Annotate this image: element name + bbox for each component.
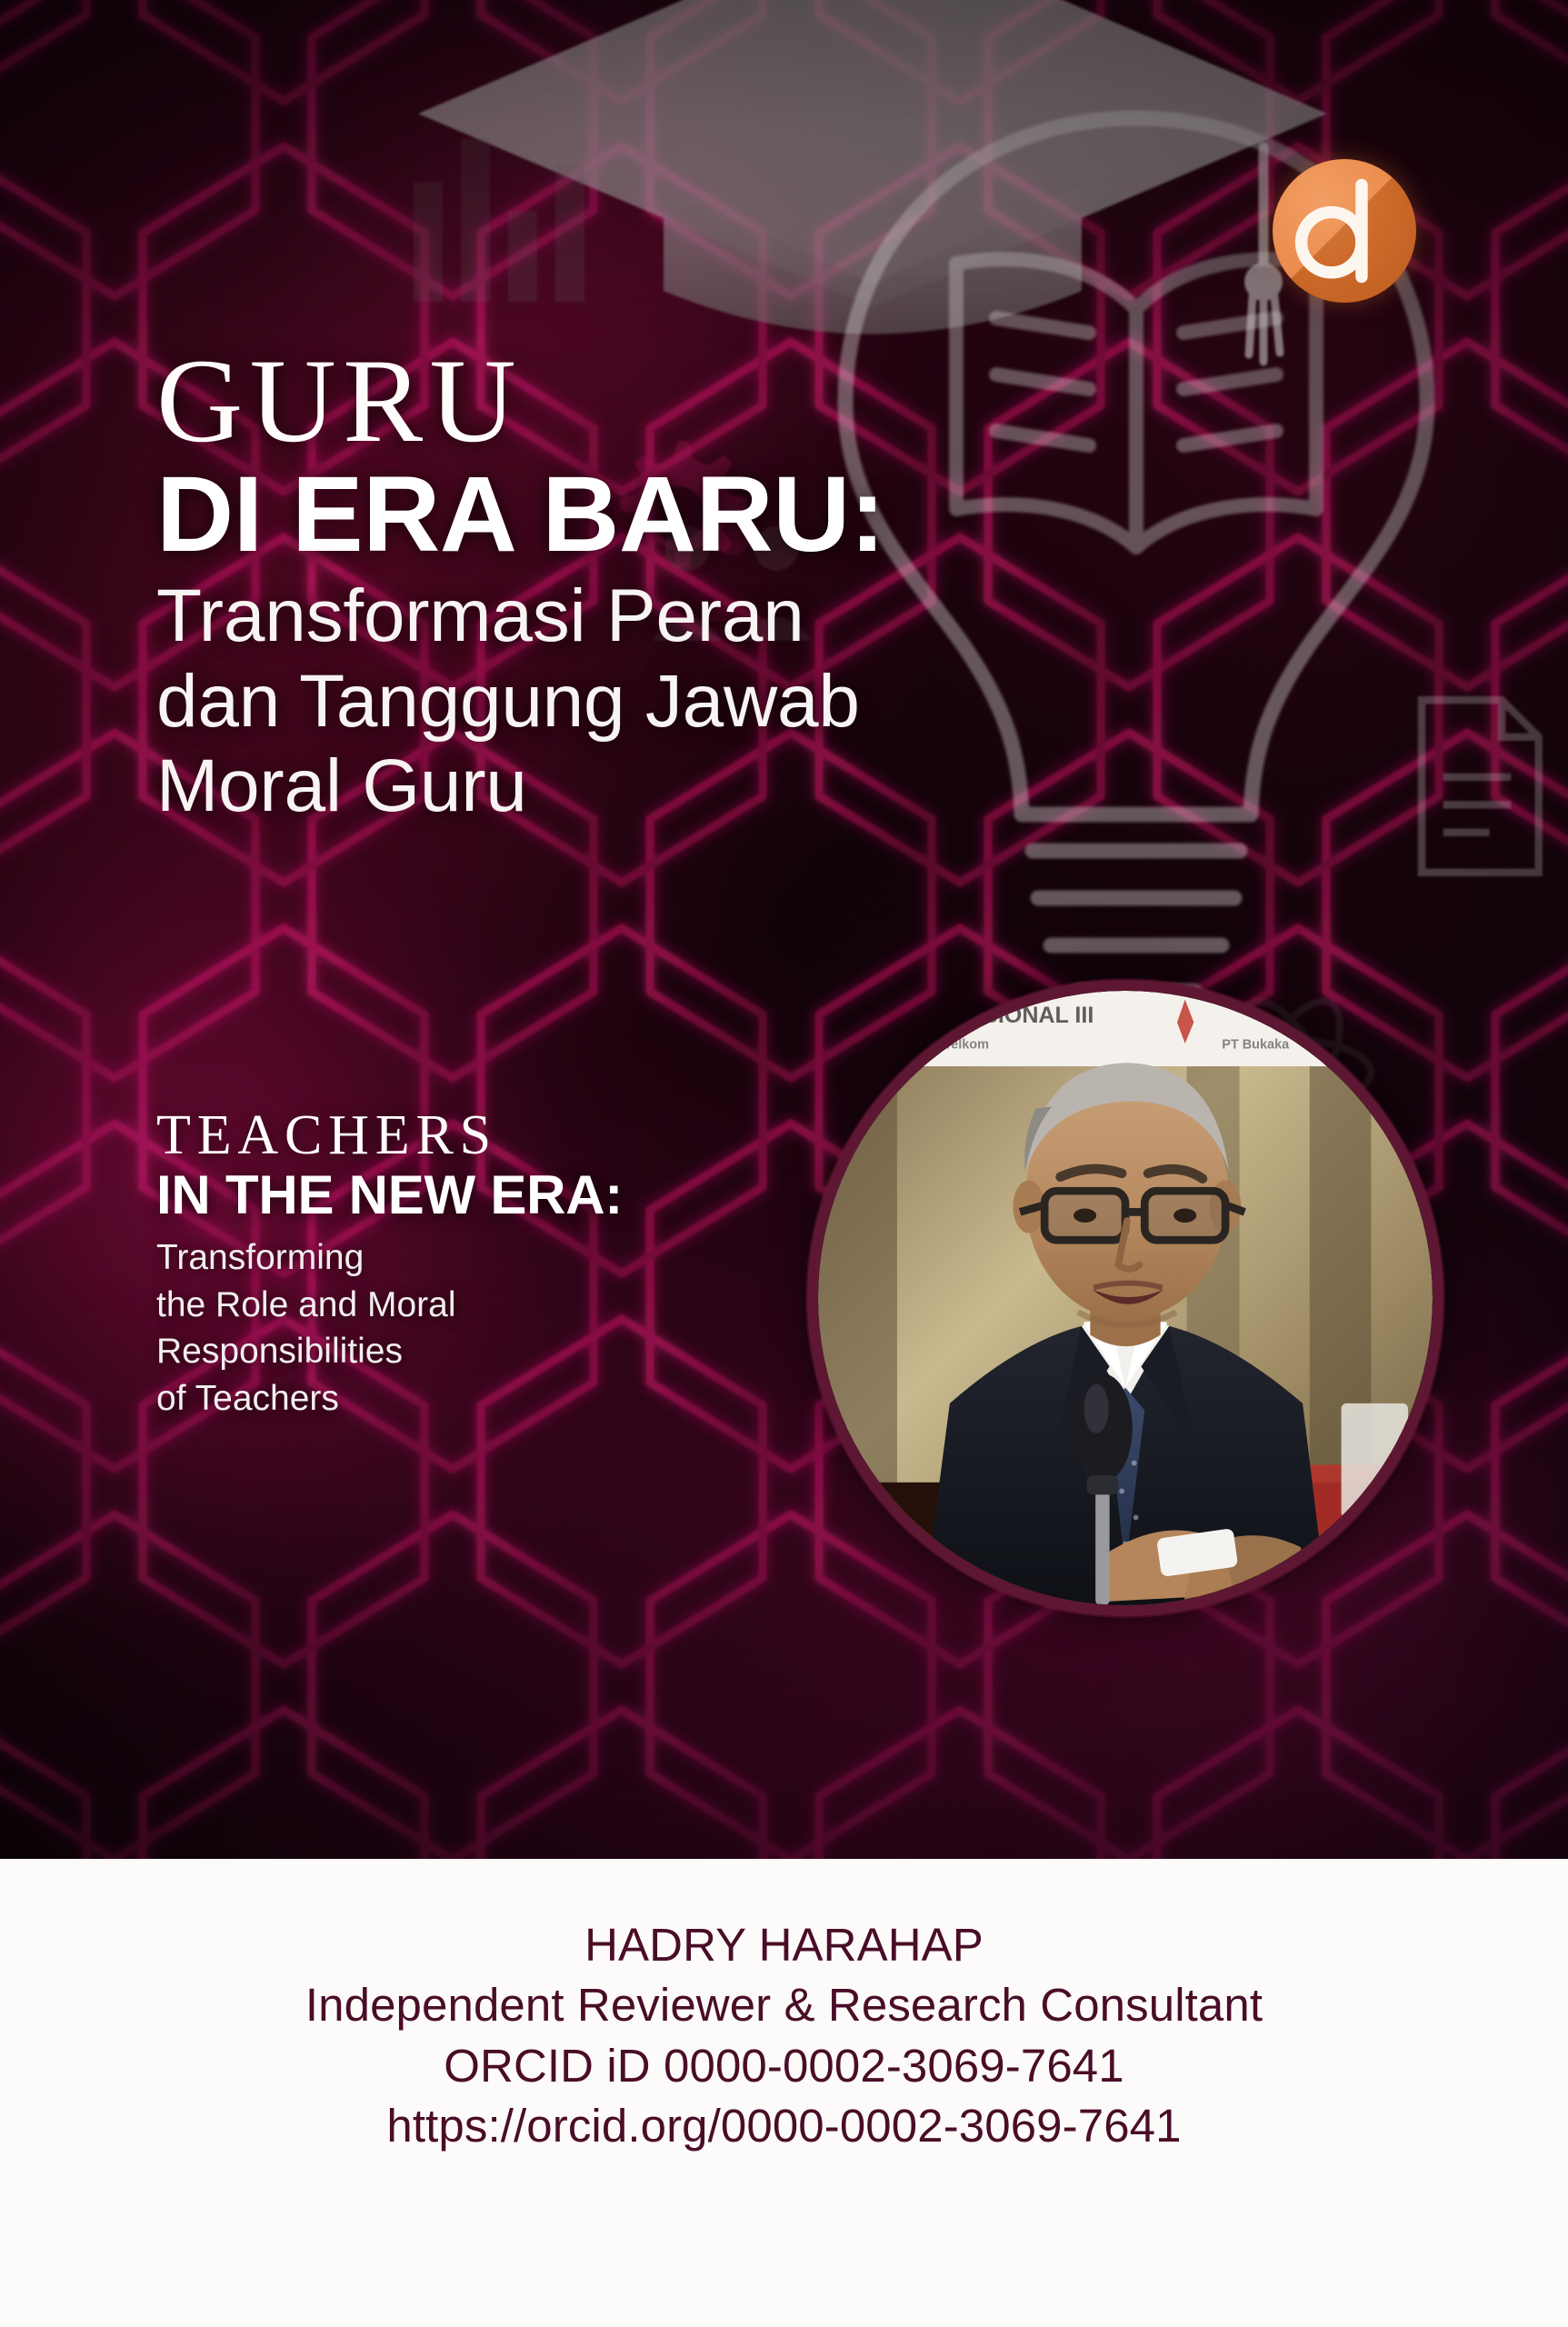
svg-text:PT Bukaka: PT Bukaka bbox=[1222, 1038, 1290, 1053]
english-title-block: TEACHERS IN THE NEW ERA: Transforming th… bbox=[156, 1107, 811, 1422]
book-cover: GURU DI ERA BARU: Transformasi Peran dan… bbox=[0, 0, 1568, 2327]
title-bold-line: DI ERA BARU: bbox=[156, 461, 1229, 568]
english-desc-line-4: of Teachers bbox=[156, 1375, 811, 1422]
logo-letter-a-icon bbox=[1273, 159, 1416, 303]
title-block: GURU DI ERA BARU: Transformasi Peran dan… bbox=[156, 345, 1229, 829]
portrait-photo: NASIONAL III PT Telkom PT Bukaka bbox=[818, 991, 1433, 1605]
author-role: Independent Reviewer & Research Consulta… bbox=[305, 1975, 1263, 2035]
title-serif-line: GURU bbox=[156, 345, 1229, 455]
english-desc-line-3: Responsibilities bbox=[156, 1328, 811, 1374]
subtitle-line-1: Transformasi Peran bbox=[156, 574, 1229, 658]
english-desc-line-2: the Role and Moral bbox=[156, 1282, 811, 1328]
english-serif-line: TEACHERS bbox=[156, 1107, 811, 1163]
english-desc-line-1: Transforming bbox=[156, 1234, 811, 1281]
author-name: HADRY HARAHAP bbox=[584, 1915, 984, 1975]
subtitle-line-2: dan Tanggung Jawab bbox=[156, 659, 1229, 744]
english-bold-line: IN THE NEW ERA: bbox=[156, 1167, 811, 1223]
subtitle-line-3: Moral Guru bbox=[156, 744, 1229, 828]
document-icon bbox=[1400, 691, 1554, 882]
publisher-logo[interactable] bbox=[1273, 159, 1416, 303]
orcid-url-link[interactable]: https://orcid.org/0000-0002-3069-7641 bbox=[386, 2096, 1181, 2156]
orcid-id: ORCID iD 0000-0002-3069-7641 bbox=[444, 2036, 1124, 2096]
author-portrait: NASIONAL III PT Telkom PT Bukaka bbox=[807, 980, 1443, 1616]
bar-chart-icon bbox=[391, 109, 618, 309]
footer-block: HADRY HARAHAP Independent Reviewer & Res… bbox=[0, 1859, 1568, 2327]
